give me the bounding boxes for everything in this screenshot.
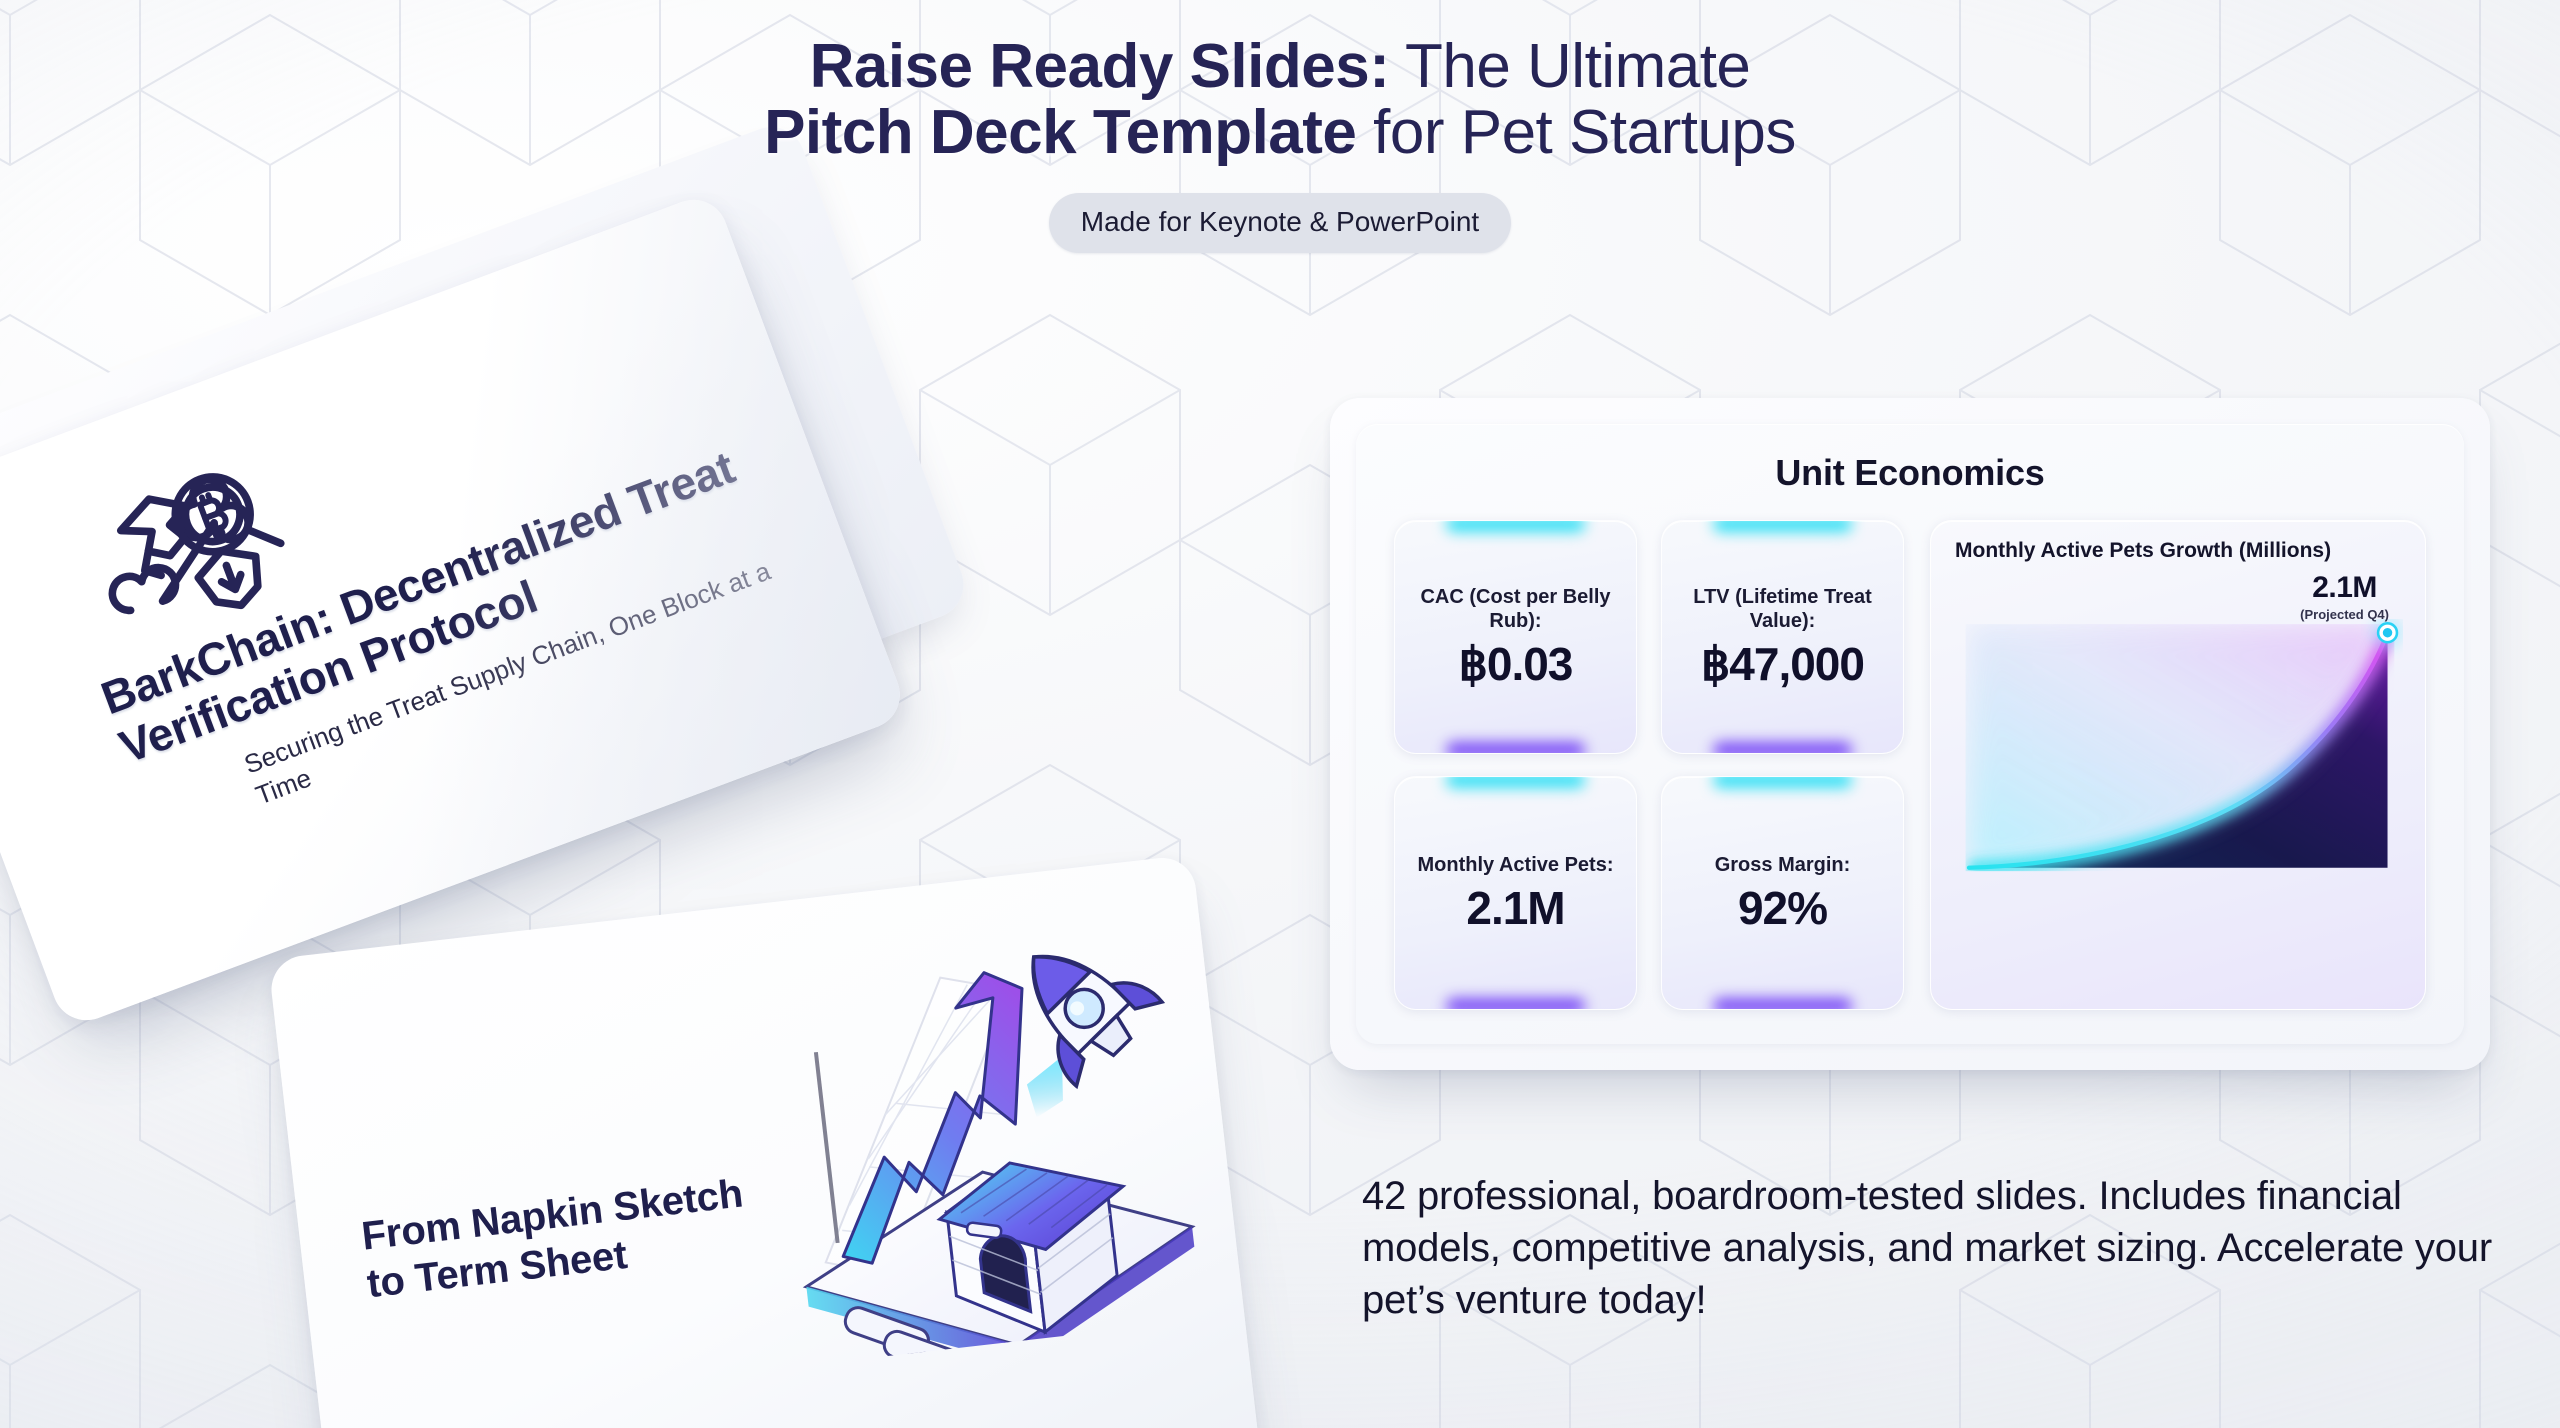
metric-value: 92% bbox=[1738, 885, 1827, 931]
doghouse-rocket-growth-chart-icon bbox=[747, 891, 1223, 1367]
page-title: Raise Ready Slides: The Ultimate Pitch D… bbox=[0, 34, 2560, 167]
header: Raise Ready Slides: The Ultimate Pitch D… bbox=[0, 34, 2560, 253]
card-glow-bottom-icon bbox=[1713, 742, 1853, 754]
card-glow-top-icon bbox=[1713, 776, 1853, 788]
growth-endpoint-value: 2.1M bbox=[2300, 573, 2389, 603]
headline-line-1-light: The Ultimate bbox=[1389, 32, 1750, 101]
metric-card-cac[interactable]: CAC (Cost per Belly Rub): ฿0.03 bbox=[1394, 520, 1637, 754]
metric-label: LTV (Lifetime Treat Value): bbox=[1674, 585, 1891, 634]
metric-value: ฿0.03 bbox=[1459, 641, 1573, 687]
growth-chart-plot bbox=[1957, 619, 2403, 876]
headline-line-2-strong: Pitch Deck Template bbox=[764, 98, 1356, 167]
metric-value: ฿47,000 bbox=[1701, 641, 1864, 687]
card-glow-bottom-icon bbox=[1446, 742, 1586, 754]
headline-line-1: Raise Ready Slides: The Ultimate bbox=[0, 34, 2560, 100]
growth-chart-annotation: 2.1M (Projected Q4) bbox=[2300, 573, 2389, 622]
unit-economics-title: Unit Economics bbox=[1394, 452, 2426, 494]
card-glow-top-icon bbox=[1713, 520, 1853, 532]
metric-label: CAC (Cost per Belly Rub): bbox=[1407, 585, 1624, 634]
headline-line-2-light: for Pet Startups bbox=[1356, 98, 1796, 167]
description-paragraph: 42 professional, boardroom-tested slides… bbox=[1362, 1170, 2492, 1326]
growth-endpoint-note: (Projected Q4) bbox=[2300, 607, 2389, 622]
card-glow-top-icon bbox=[1446, 520, 1586, 532]
headline-line-1-strong: Raise Ready Slides: bbox=[810, 32, 1390, 101]
unit-economics-body: CAC (Cost per Belly Rub): ฿0.03 LTV (Lif… bbox=[1394, 520, 2426, 1010]
card-glow-bottom-icon bbox=[1713, 998, 1853, 1010]
metric-label: Gross Margin: bbox=[1715, 853, 1851, 877]
metric-card-monthly-active-pets[interactable]: Monthly Active Pets: 2.1M bbox=[1394, 776, 1637, 1010]
card-glow-top-icon bbox=[1446, 776, 1586, 788]
growth-chart-card[interactable]: Monthly Active Pets Growth (Millions) 2.… bbox=[1930, 520, 2426, 1010]
napkin-card-title: From Napkin Sketch to Term Sheet bbox=[359, 1168, 767, 1309]
headline-line-2: Pitch Deck Template for Pet Startups bbox=[0, 100, 2560, 166]
platform-badge: Made for Keynote & PowerPoint bbox=[1049, 193, 1511, 253]
metric-card-ltv[interactable]: LTV (Lifetime Treat Value): ฿47,000 bbox=[1661, 520, 1904, 754]
growth-chart-title: Monthly Active Pets Growth (Millions) bbox=[1955, 539, 2405, 563]
metric-card-grid: CAC (Cost per Belly Rub): ฿0.03 LTV (Lif… bbox=[1394, 520, 1904, 1010]
unit-economics-slide-device[interactable]: Unit Economics CAC (Cost per Belly Rub):… bbox=[1330, 398, 2490, 1070]
metric-value: 2.1M bbox=[1466, 885, 1564, 931]
unit-economics-panel: Unit Economics CAC (Cost per Belly Rub):… bbox=[1356, 424, 2464, 1044]
metric-label: Monthly Active Pets: bbox=[1418, 853, 1614, 877]
metric-card-gross-margin[interactable]: Gross Margin: 92% bbox=[1661, 776, 1904, 1010]
card-glow-bottom-icon bbox=[1446, 998, 1586, 1010]
